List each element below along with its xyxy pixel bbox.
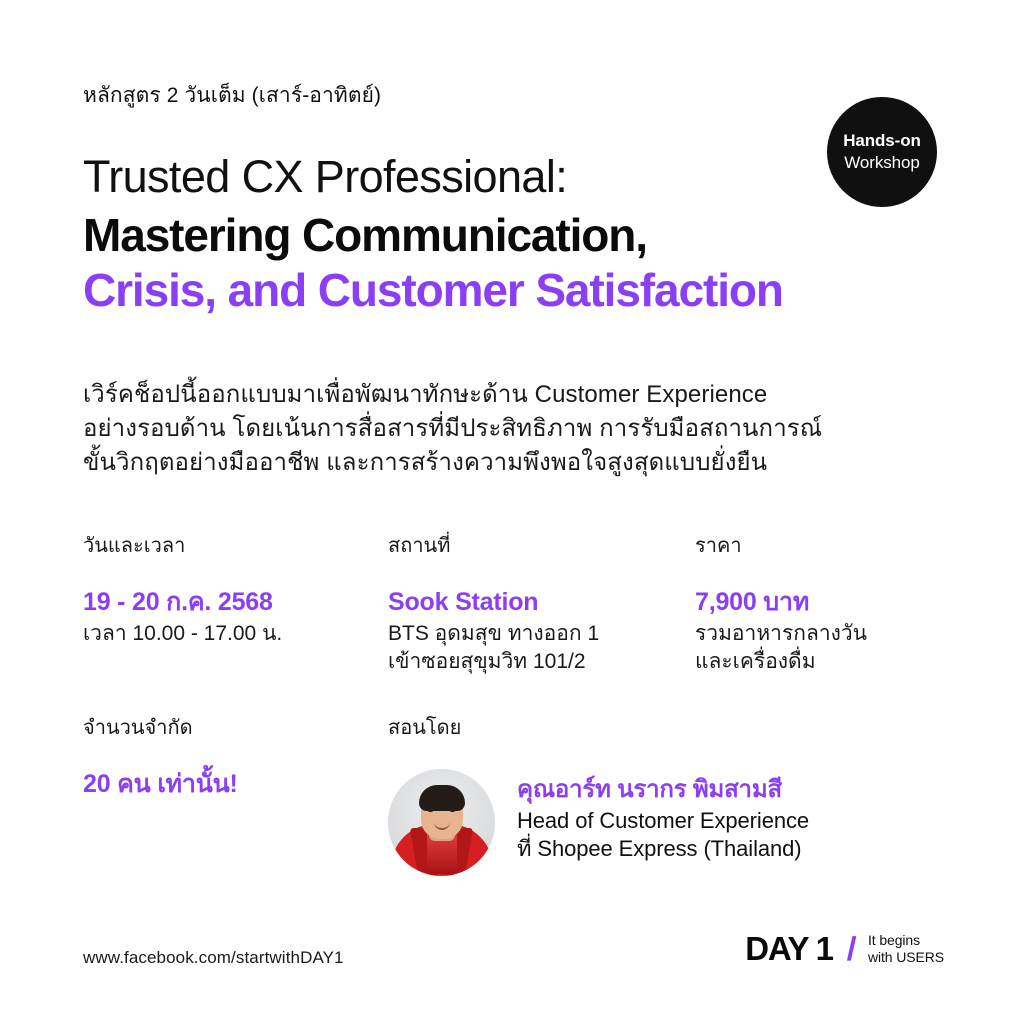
instructor-details: คุณอาร์ท นรากร พิมสามสี Head of Customer…	[517, 769, 809, 864]
brand-tagline-line-2: with USERS	[868, 949, 944, 965]
info-row-primary: วันและเวลา 19 - 20 ก.ค. 2568 เวลา 10.00 …	[83, 534, 983, 675]
brand-slash-icon: /	[846, 932, 856, 965]
avatar	[388, 769, 495, 876]
description-line-3: ขั้นวิกฤตอย่างมืออาชีพ และการสร้างความพึ…	[83, 446, 973, 480]
brand-name: DAY 1	[745, 932, 833, 965]
info-block-seats: จำนวนจำกัด 20 คน เท่านั้น!	[83, 716, 388, 876]
brand-tagline-line-1: It begins	[868, 932, 920, 948]
seats-label: จำนวนจำกัด	[83, 716, 388, 741]
course-description: เวิร์คช็อปนี้ออกแบบมาเพื่อพัฒนาทักษะด้าน…	[83, 378, 973, 480]
workshop-poster: หลักสูตร 2 วันเต็ม (เสาร์-อาทิตย์) Hands…	[0, 0, 1024, 1024]
info-row-secondary: จำนวนจำกัด 20 คน เท่านั้น! สอนโดย	[83, 716, 983, 876]
title-line-2: Mastering Communication,	[83, 208, 963, 262]
page-title: Trusted CX Professional: Mastering Commu…	[83, 152, 963, 317]
price-label: ราคา	[695, 534, 983, 559]
date-label: วันและเวลา	[83, 534, 388, 559]
avatar-hair	[419, 785, 465, 811]
venue-value: Sook Station	[388, 587, 695, 617]
info-block-price: ราคา 7,900 บาท รวมอาหารกลางวัน และเครื่อ…	[695, 534, 983, 675]
price-detail-2: และเครื่องดื่ม	[695, 648, 983, 676]
instructor-card: คุณอาร์ท นรากร พิมสามสี Head of Customer…	[388, 769, 983, 876]
date-value: 19 - 20 ก.ค. 2568	[83, 587, 388, 617]
instructor-role-line-1: Head of Customer Experience	[517, 807, 809, 835]
brand-tagline: It begins with USERS	[868, 932, 944, 965]
title-line-1: Trusted CX Professional:	[83, 152, 963, 202]
instructor-name: คุณอาร์ท นรากร พิมสามสี	[517, 775, 809, 805]
instructor-label: สอนโดย	[388, 716, 983, 741]
instructor-role-line-2: ที่ Shopee Express (Thailand)	[517, 835, 809, 863]
info-block-instructor: สอนโดย คุณอาร์ท นรากร พิมสามสี	[388, 716, 983, 876]
venue-label: สถานที่	[388, 534, 695, 559]
facebook-url[interactable]: www.facebook.com/startwithDAY1	[83, 948, 344, 968]
seats-value: 20 คน เท่านั้น!	[83, 769, 388, 799]
date-time-detail: เวลา 10.00 - 17.00 น.	[83, 620, 388, 648]
description-line-2: อย่างรอบด้าน โดยเน้นการสื่อสารที่มีประสิ…	[83, 412, 973, 446]
info-block-date: วันและเวลา 19 - 20 ก.ค. 2568 เวลา 10.00 …	[83, 534, 388, 675]
avatar-eye-right	[450, 809, 455, 812]
course-kicker: หลักสูตร 2 วันเต็ม (เสาร์-อาทิตย์)	[83, 82, 381, 109]
day1-logo: DAY 1 / It begins with USERS	[745, 932, 944, 965]
price-detail-1: รวมอาหารกลางวัน	[695, 620, 983, 648]
title-line-3: Crisis, and Customer Satisfaction	[83, 263, 963, 317]
description-line-1: เวิร์คช็อปนี้ออกแบบมาเพื่อพัฒนาทักษะด้าน…	[83, 378, 973, 412]
avatar-eye-left	[428, 809, 433, 812]
badge-line-1: Hands-on	[843, 130, 921, 152]
venue-detail-1: BTS อุดมสุข ทางออก 1	[388, 620, 695, 648]
info-block-venue: สถานที่ Sook Station BTS อุดมสุข ทางออก …	[388, 534, 695, 675]
venue-detail-2: เข้าซอยสุขุมวิท 101/2	[388, 648, 695, 676]
price-value: 7,900 บาท	[695, 587, 983, 617]
